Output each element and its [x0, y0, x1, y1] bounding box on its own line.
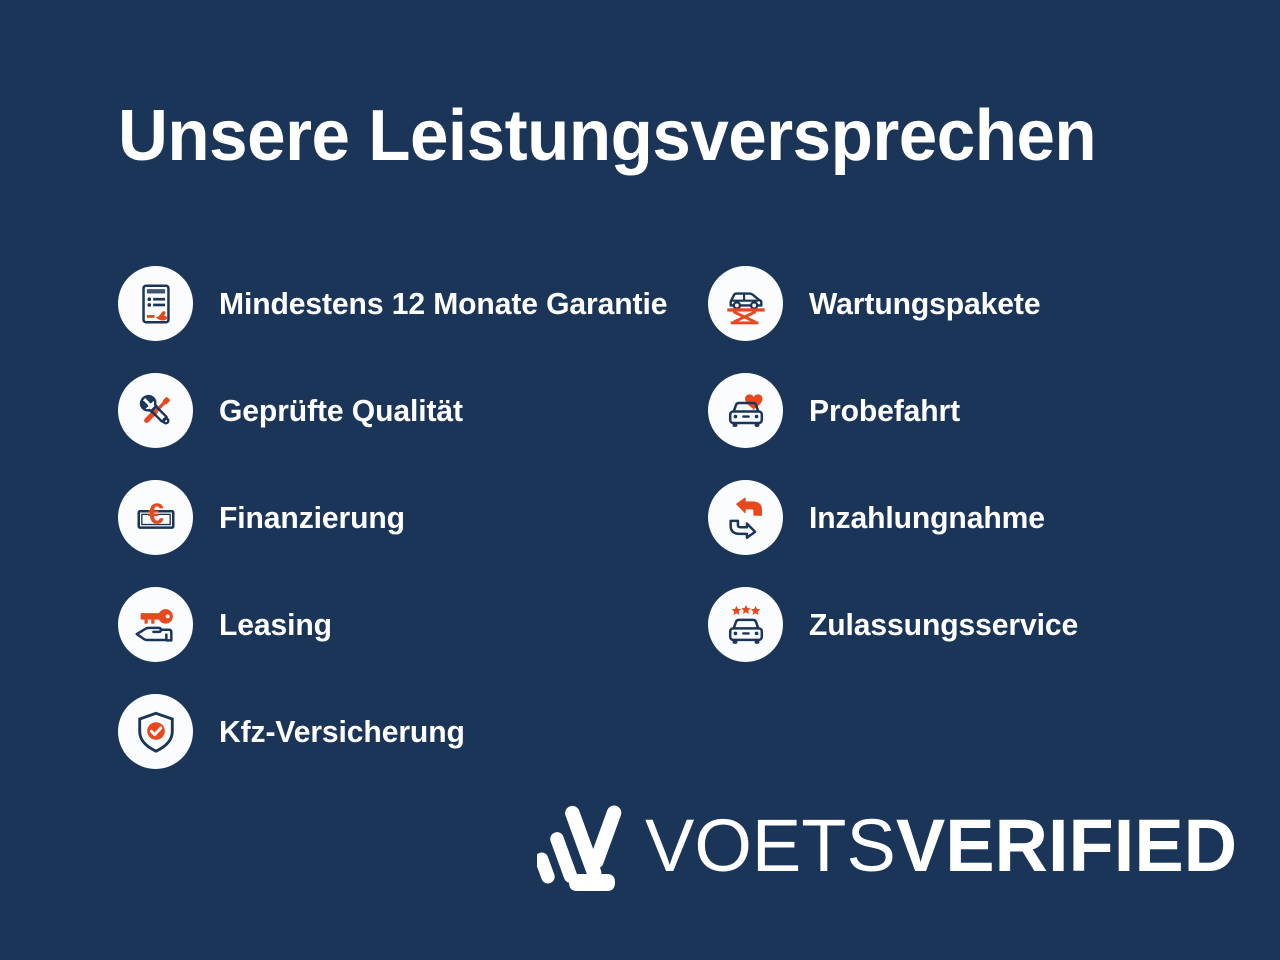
- feature-column-left: Mindestens 12 Monate Garantie: [0, 250, 655, 785]
- car-three-stars-icon: [723, 602, 769, 648]
- feature-item-probefahrt[interactable]: Probefahrt: [708, 357, 1280, 464]
- feature-label: Mindestens 12 Monate Garantie: [219, 286, 667, 322]
- feature-grid: Mindestens 12 Monate Garantie: [0, 250, 1280, 785]
- car-heart-icon: [723, 388, 769, 434]
- badge-circle: [708, 587, 783, 662]
- feature-item-qualitaet[interactable]: Geprüfte Qualität: [118, 357, 655, 464]
- wrench-screwdriver-icon: [133, 388, 179, 434]
- badge-circle: €: [118, 480, 193, 555]
- feature-label: Wartungspakete: [809, 286, 1040, 322]
- badge-circle: [708, 480, 783, 555]
- page-title: Unsere Leistungsversprechen: [118, 100, 1136, 172]
- svg-text:€: €: [148, 498, 164, 530]
- feature-item-finanzierung[interactable]: € Finanzierung: [118, 464, 655, 571]
- shield-check-icon: [133, 709, 179, 755]
- feature-item-versicherung[interactable]: Kfz-Versicherung: [118, 678, 655, 785]
- feature-label: Zulassungsservice: [809, 607, 1078, 643]
- exchange-arrows-icon: [723, 495, 769, 541]
- feature-item-wartungspakete[interactable]: Wartungspakete: [708, 250, 1280, 357]
- promise-banner: Unsere Leistungsversprechen: [0, 0, 1280, 960]
- feature-label: Geprüfte Qualität: [219, 393, 463, 429]
- badge-circle: [708, 373, 783, 448]
- feature-label: Kfz-Versicherung: [219, 714, 465, 750]
- badge-circle: [708, 266, 783, 341]
- logo-word-verified: VERIFIED: [896, 804, 1237, 887]
- feature-column-right: Wartungspakete: [655, 250, 1280, 785]
- feature-item-leasing[interactable]: Leasing: [118, 571, 655, 678]
- feature-label: Inzahlungnahme: [809, 500, 1045, 536]
- badge-circle: [118, 587, 193, 662]
- logo-word-voets: VOETS: [645, 804, 896, 887]
- feature-item-zulassungsservice[interactable]: Zulassungsservice: [708, 571, 1280, 678]
- euro-banknote-icon: €: [133, 495, 179, 541]
- logo-wordmark: VOETSVERIFIED: [645, 809, 1237, 883]
- voets-check-mark-icon: [537, 800, 623, 892]
- feature-item-garantie[interactable]: Mindestens 12 Monate Garantie: [118, 250, 655, 357]
- document-signature-icon: [133, 281, 179, 327]
- badge-circle: [118, 266, 193, 341]
- feature-label: Finanzierung: [219, 500, 405, 536]
- car-on-lift-icon: [723, 281, 769, 327]
- badge-circle: [118, 694, 193, 769]
- feature-label: Probefahrt: [809, 393, 960, 429]
- voets-verified-logo: VOETSVERIFIED: [537, 800, 1237, 892]
- badge-circle: [118, 373, 193, 448]
- feature-item-inzahlungnahme[interactable]: Inzahlungnahme: [708, 464, 1280, 571]
- feature-label: Leasing: [219, 607, 332, 643]
- key-in-hand-icon: [133, 602, 179, 648]
